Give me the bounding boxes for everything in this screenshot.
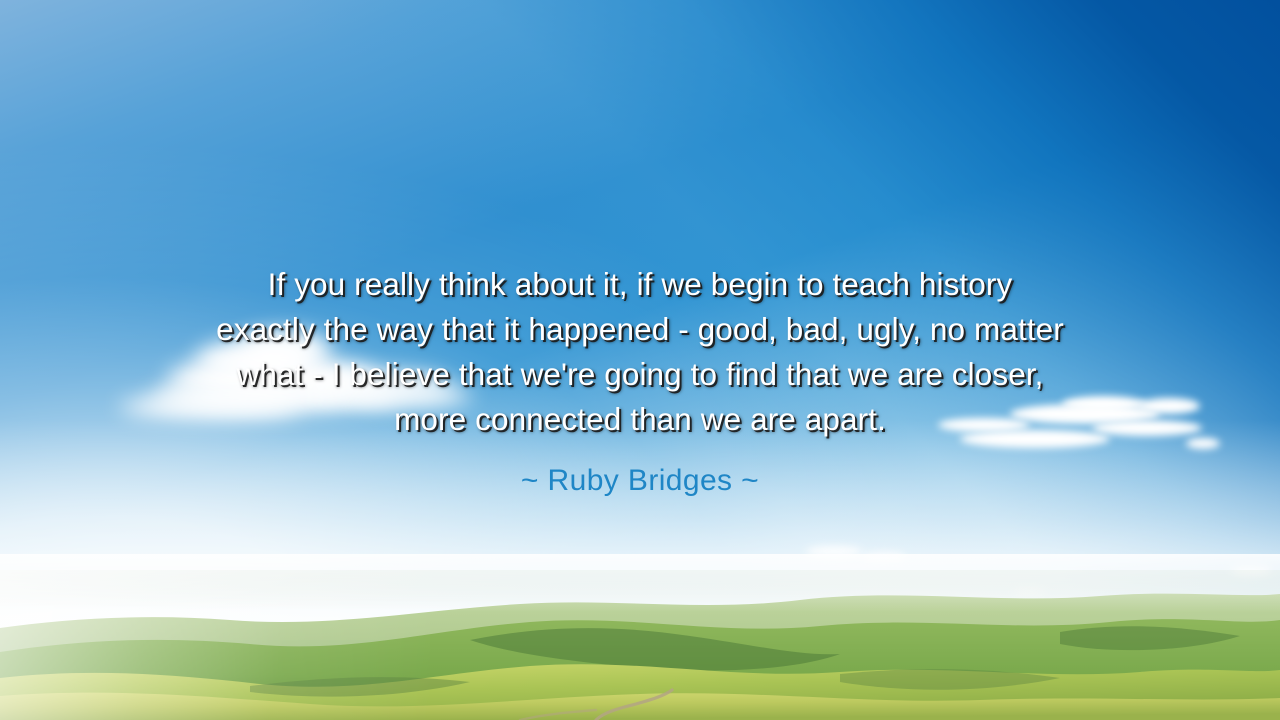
quote-wallpaper: If you really think about it, if we begi…: [0, 0, 1280, 720]
quote-line-4: more connected than we are apart.: [60, 397, 1220, 442]
quote-text-block: If you really think about it, if we begi…: [0, 262, 1280, 500]
quote-line-2: exactly the way that it happened - good,…: [60, 307, 1220, 352]
rolling-hills: [0, 570, 1280, 720]
quote-line-3: what - I believe that we're going to fin…: [60, 352, 1220, 397]
quote-attribution: ~ Ruby Bridges ~: [60, 462, 1220, 500]
quote-line-1: If you really think about it, if we begi…: [60, 262, 1220, 307]
